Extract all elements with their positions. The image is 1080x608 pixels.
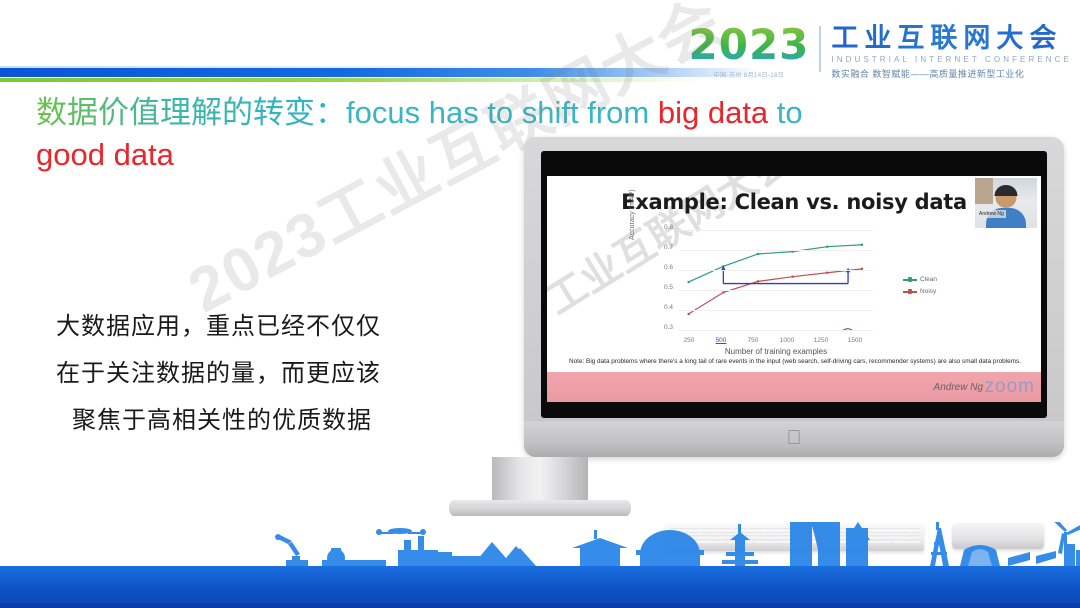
chart-xtick: 1000 (780, 337, 794, 344)
chart-gridline (679, 230, 873, 231)
webcam-thumbnail: Andrew Ng (975, 178, 1037, 228)
legend-label-noisy: Noisy (920, 288, 936, 295)
chart-gridline (679, 330, 873, 331)
decor-rule-green (0, 78, 700, 82)
chart-gridline (679, 270, 873, 271)
legend-label-clean: Clean (920, 276, 937, 283)
chart-point (757, 280, 759, 282)
chart-plot-area (679, 228, 873, 330)
chart-series-svg (679, 228, 873, 332)
legend-item-noisy: Noisy (903, 288, 937, 295)
chart-xtick: 750 (748, 337, 759, 344)
webcam-background (975, 178, 993, 204)
title-cn: 数据价值理解的转变： (36, 95, 346, 130)
decor-rule-blue (0, 68, 760, 77)
chart-ytick: 0.6 (657, 264, 673, 271)
chart-gridline (679, 310, 873, 311)
apple-logo-icon:  (787, 428, 802, 448)
title-en-part2: to (768, 95, 802, 130)
title-en-part1: focus has to shift from (346, 95, 658, 130)
conference-logo: 2023 中国·苏州 8月14日-18日 工业互联网大会 INDUSTRIAL … (689, 24, 1072, 80)
logo-year: 2023 (689, 24, 810, 66)
skyline-decoration (0, 528, 1080, 608)
body-text: 大数据应用，重点已经不仅仅 在于关注数据的量，而更应该 聚焦于高相关性的优质数据 (56, 304, 476, 444)
chart-point (826, 246, 828, 248)
shared-slide: 工业互联网大会 Example: Clean vs. noisy data Ac… (547, 176, 1041, 402)
slide-footer-band: Andrew Ng zoom 知乎 @酱油一哥 (547, 372, 1041, 402)
imac-illustration: 工业互联网大会 Example: Clean vs. noisy data Ac… (524, 137, 1064, 457)
skyline-silhouette-icon (0, 522, 1080, 568)
logo-title-cn: 工业互联网大会 (831, 24, 1072, 52)
chart-xlabel: Number of training examples (679, 347, 873, 356)
slide-title: Example: Clean vs. noisy data (547, 190, 1041, 214)
chart-point (861, 244, 863, 246)
logo-year-subtitle: 中国·苏州 8月14日-18日 (689, 70, 810, 79)
logo-divider (819, 26, 821, 72)
chart-point (826, 272, 828, 274)
chart-ytick: 0.3 (657, 324, 673, 331)
chart-xtick: 1500 (848, 337, 862, 344)
chart-ytick: 0.5 (657, 284, 673, 291)
title-en-highlight: big data (658, 95, 768, 130)
chart-gridline (679, 290, 873, 291)
chart-ytick: 0.8 (657, 224, 673, 231)
legend-swatch-clean-icon (903, 279, 917, 281)
zoom-watermark: zoom (985, 376, 1035, 398)
chart-ylabel: Accuracy (mAP) (629, 189, 636, 240)
body-line-1: 大数据应用，重点已经不仅仅 (56, 304, 476, 351)
chart-legend: Clean Noisy (903, 276, 937, 300)
chart-xtick: 250 (684, 337, 695, 344)
legend-swatch-noisy-icon (903, 291, 917, 293)
imac-screen: 工业互联网大会 Example: Clean vs. noisy data Ac… (541, 151, 1047, 418)
chart-ytick: 0.4 (657, 304, 673, 311)
chart-point (722, 291, 724, 293)
chart-gridline (679, 250, 873, 251)
chart-xtick-highlight: 500 (716, 337, 727, 344)
slide-note: Note: Big data problems where there's a … (569, 357, 1023, 368)
title-en-line2: good data (36, 137, 174, 172)
skyline-water-band (0, 566, 1080, 608)
chart-line-noisy (689, 269, 862, 314)
webcam-name-label: Andrew Ng (977, 210, 1006, 218)
legend-item-clean: Clean (903, 276, 937, 283)
body-line-3: 聚焦于高相关性的优质数据 (56, 398, 476, 445)
logo-title-en: INDUSTRIAL INTERNET CONFERENCE (831, 55, 1072, 64)
chart-ytick: 0.7 (657, 244, 673, 251)
chart-xtick: 1250 (814, 337, 828, 344)
imac-stand-foot (449, 500, 631, 516)
imac-chin:  (524, 421, 1064, 457)
accuracy-chart: Accuracy (mAP) 0.8 0.7 0.6 0.5 0.4 0.3 (635, 224, 935, 354)
bottom-edge-bar (0, 603, 1080, 608)
presenter-name: Andrew Ng (934, 382, 983, 393)
chart-point (688, 281, 690, 283)
webcam-hair-icon (995, 185, 1018, 196)
body-line-2: 在于关注数据的量，而更应该 (56, 351, 476, 398)
logo-tagline: 数实融合 数智赋能——高质量推进新型工业化 (831, 67, 1072, 80)
chart-point (792, 276, 794, 278)
presentation-slide: 2023 中国·苏州 8月14日-18日 工业互联网大会 INDUSTRIAL … (0, 0, 1080, 608)
chart-point (688, 313, 690, 315)
chart-point (757, 253, 759, 255)
